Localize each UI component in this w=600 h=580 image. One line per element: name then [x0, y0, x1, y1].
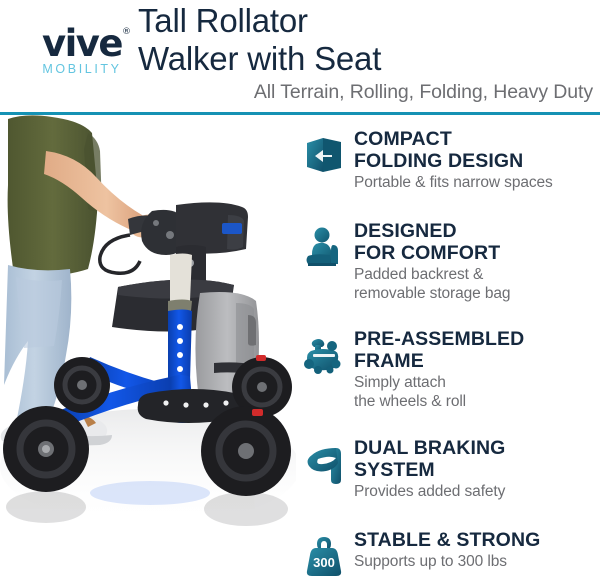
feature-title-line-2: SYSTEM: [354, 460, 505, 482]
feature-text: COMPACT FOLDING DESIGN Portable & fits n…: [352, 129, 553, 192]
feature-list: COMPACT FOLDING DESIGN Portable & fits n…: [296, 118, 600, 580]
feature-title-line-2: FOR COMFORT: [354, 243, 510, 265]
feature-title-line-1: DUAL BRAKING: [354, 438, 505, 460]
feature-title-line-2: FRAME: [354, 351, 524, 373]
page-title-line-2: Walker with Seat: [138, 40, 593, 78]
header: vive® MOBILITY Tall Rollator Walker with…: [0, 0, 600, 112]
feature-desc-line-1: Supports up to 300 lbs: [354, 553, 540, 571]
feature-compact-folding-design: COMPACT FOLDING DESIGN Portable & fits n…: [296, 129, 600, 192]
feature-text: STABLE & STRONG Supports up to 300 lbs: [352, 530, 540, 571]
rollator-upper-tube: [170, 254, 192, 303]
feature-dual-braking-system: DUAL BRAKING SYSTEM Provides added safet…: [296, 438, 600, 501]
feature-desc-line-1: Padded backrest &: [354, 266, 510, 284]
product-feature-infographic: vive® MOBILITY Tall Rollator Walker with…: [0, 0, 600, 580]
folding-panel-icon: [296, 129, 352, 177]
wheel-rear-left: [54, 357, 110, 413]
logo-wordmark-text: vive: [42, 22, 122, 65]
feature-title-line-1: STABLE & STRONG: [354, 530, 540, 552]
registered-trademark-icon: ®: [122, 28, 131, 37]
product-photo: [0, 115, 296, 580]
vive-mobility-logo: vive® MOBILITY: [22, 26, 142, 76]
brake-handle-icon: [296, 438, 352, 486]
feature-title-line-2: FOLDING DESIGN: [354, 151, 553, 173]
feature-text: DESIGNED FOR COMFORT Padded backrest & r…: [352, 221, 510, 303]
feature-designed-for-comfort: DESIGNED FOR COMFORT Padded backrest & r…: [296, 221, 600, 303]
seated-person-icon: [296, 221, 352, 269]
logo-wordmark: vive®: [42, 26, 122, 61]
product-photo-illustration: [0, 115, 296, 580]
feature-desc-line-2: removable storage bag: [354, 285, 510, 303]
feature-text: DUAL BRAKING SYSTEM Provides added safet…: [352, 438, 505, 501]
feature-desc-line-1: Simply attach: [354, 374, 524, 392]
feature-title-line-1: PRE-ASSEMBLED: [354, 329, 524, 351]
weight-300-icon: 300: [296, 530, 352, 578]
page-subtitle: All Terrain, Rolling, Folding, Heavy Dut…: [138, 81, 593, 104]
page-title-line-1: Tall Rollator: [138, 2, 593, 40]
feature-title-line-1: DESIGNED: [354, 221, 510, 243]
wheel-front-left: [3, 406, 89, 492]
feature-desc-line-1: Portable & fits narrow spaces: [354, 174, 553, 192]
wheel-front-right: [201, 406, 291, 496]
feature-title-line-1: COMPACT: [354, 129, 553, 151]
feature-text: PRE-ASSEMBLED FRAME Simply attach the wh…: [352, 329, 524, 411]
feature-pre-assembled-frame: PRE-ASSEMBLED FRAME Simply attach the wh…: [296, 329, 600, 411]
feature-desc-line-2: the wheels & roll: [354, 393, 524, 411]
rollator-frame-icon: [296, 329, 352, 377]
weight-badge-value: 300: [313, 555, 335, 570]
feature-desc-line-1: Provides added safety: [354, 483, 505, 501]
backrest-brand-label: [222, 223, 242, 234]
page-title: Tall Rollator Walker with Seat All Terra…: [138, 2, 593, 104]
feature-stable-and-strong: 300 STABLE & STRONG Supports up to 300 l…: [296, 530, 600, 578]
